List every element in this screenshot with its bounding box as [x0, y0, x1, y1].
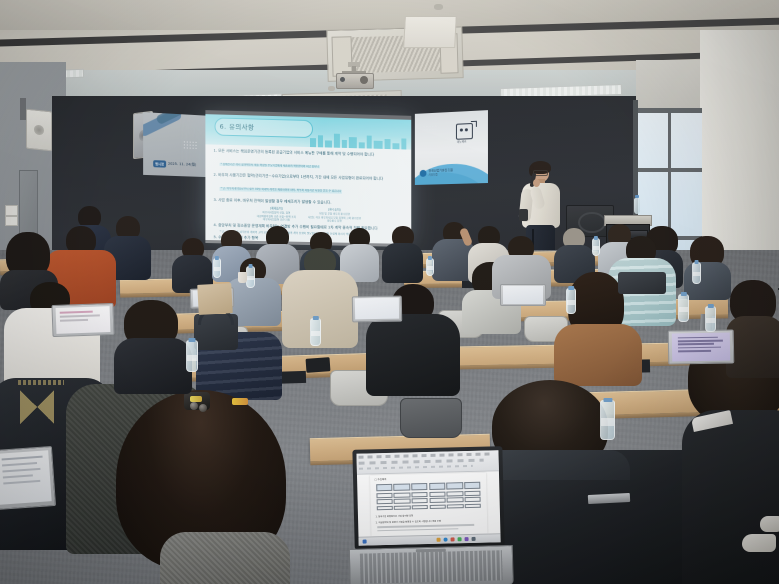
table-column [393, 483, 410, 510]
water-bottle[interactable] [592, 238, 600, 256]
snack-package [190, 396, 202, 402]
table-column [447, 482, 464, 509]
audience-member-mid-left [114, 300, 190, 386]
laptop-base-keyboard[interactable] [349, 545, 514, 584]
laptop[interactable] [668, 329, 735, 364]
table-column [376, 483, 393, 510]
collar [482, 450, 630, 480]
wall-speaker-left [26, 109, 52, 152]
torso [682, 410, 779, 584]
torso [114, 338, 192, 394]
org-name-secondary: 기술보증 [428, 172, 452, 177]
jacket-logo [20, 390, 54, 424]
event-date-text: 2025. 11. 24(월) [168, 162, 196, 168]
mail-icon[interactable] [451, 537, 455, 541]
event-badge-label: 행사명 [153, 161, 166, 168]
audience-member [172, 238, 212, 290]
event-date-badge: 행사명 2025. 11. 24(월) [153, 161, 196, 169]
water-bottle[interactable] [705, 306, 716, 332]
laptop[interactable] [0, 446, 56, 510]
jacket-brand-text [18, 380, 64, 385]
hair-clip-bead [199, 404, 207, 412]
laptop[interactable] [352, 296, 402, 323]
settings-icon[interactable] [472, 537, 476, 541]
browser-icon[interactable] [444, 537, 448, 541]
laptop-lid: □ 추진체계 [352, 446, 504, 550]
logo-caption: 이노비즈 [457, 139, 466, 143]
audience-member [684, 236, 730, 294]
presenter-hand [533, 179, 540, 187]
laptop[interactable] [500, 284, 546, 306]
projection-screen: 6. 유의사항 1. 모든 서비스는 책임운영기관의 등록된 공급기업의 서비스… [205, 114, 411, 244]
torso [382, 243, 423, 283]
audience-member [382, 226, 422, 280]
water-bottle[interactable] [186, 340, 198, 372]
light-switch-panel[interactable] [5, 216, 18, 226]
hair-clip-bead [190, 402, 198, 410]
media-icon[interactable] [465, 537, 469, 541]
projected-slide: 6. 유의사항 1. 모든 서비스는 책임운영기관의 등록된 공급기업의 서비스… [205, 114, 411, 244]
innobiz-logo-icon: 이노비즈 [456, 121, 478, 140]
document-page: □ 추진체계 [370, 473, 488, 537]
laptop-document-screen[interactable]: □ 추진체계 [356, 450, 500, 545]
water-bottle[interactable] [678, 294, 689, 322]
left-wall-display: 행사명 2025. 11. 24(월) [143, 112, 208, 177]
folder-icon[interactable] [437, 537, 441, 541]
chat-icon[interactable] [458, 537, 462, 541]
org-mark-icon [420, 169, 427, 176]
dot-pattern [183, 140, 197, 151]
audience-member-long-hair-foreground [116, 390, 286, 584]
document-note: 1. 참여기업 확정절차로 사업 참여방 진행 [375, 513, 413, 518]
dot-pattern [423, 125, 437, 136]
table-column [411, 483, 428, 510]
table-column [464, 481, 481, 508]
right-wall-display: 이노비즈 한국산업기술진흥원 기술보증 [415, 110, 488, 185]
document-heading: □ 추진체계 [374, 477, 386, 481]
water-bottle[interactable] [600, 400, 615, 440]
foreground-laptop[interactable]: □ 추진체계 [352, 446, 505, 584]
paper-taped-to-vent [403, 16, 457, 48]
snack-package [232, 398, 248, 405]
document-org-table [376, 481, 481, 510]
presenter-clicker [519, 209, 528, 221]
screen-glare [205, 114, 411, 244]
shoe [742, 534, 776, 552]
app-ribbon-toolbar[interactable] [356, 450, 498, 475]
wall-door-panel [19, 170, 38, 238]
water-bottle[interactable] [213, 258, 221, 278]
shoe [760, 516, 779, 532]
table-column [429, 482, 446, 509]
torso [554, 324, 642, 386]
coffee-cup[interactable] [238, 272, 247, 283]
water-bottle[interactable] [246, 266, 255, 288]
start-icon[interactable] [363, 539, 367, 543]
water-bottle[interactable] [566, 288, 576, 314]
ceiling-projector [330, 62, 378, 92]
seminar-room-photo: 행사명 2025. 11. 24(월) 6. 유의사항 1. 모든 서비스는 책… [0, 0, 779, 584]
paper-bag[interactable] [197, 283, 233, 315]
handbag[interactable] [618, 272, 666, 294]
laptop[interactable] [51, 303, 114, 337]
water-bottle[interactable] [426, 258, 434, 276]
water-bottle[interactable] [692, 262, 701, 284]
coat-shoulder [160, 532, 290, 584]
water-bottle [634, 198, 640, 214]
light-switch-panel[interactable] [5, 205, 18, 216]
smartphone[interactable] [306, 357, 331, 373]
org-footer: 한국산업기술진흥원 기술보증 [420, 168, 453, 177]
water-bottle[interactable] [310, 318, 321, 346]
sprinkler-head [434, 4, 443, 10]
document-note: 2. 지원협의체 및 관련사 지원을 확정할 수 있도록 시행합니다 계획 조정 [376, 519, 441, 525]
